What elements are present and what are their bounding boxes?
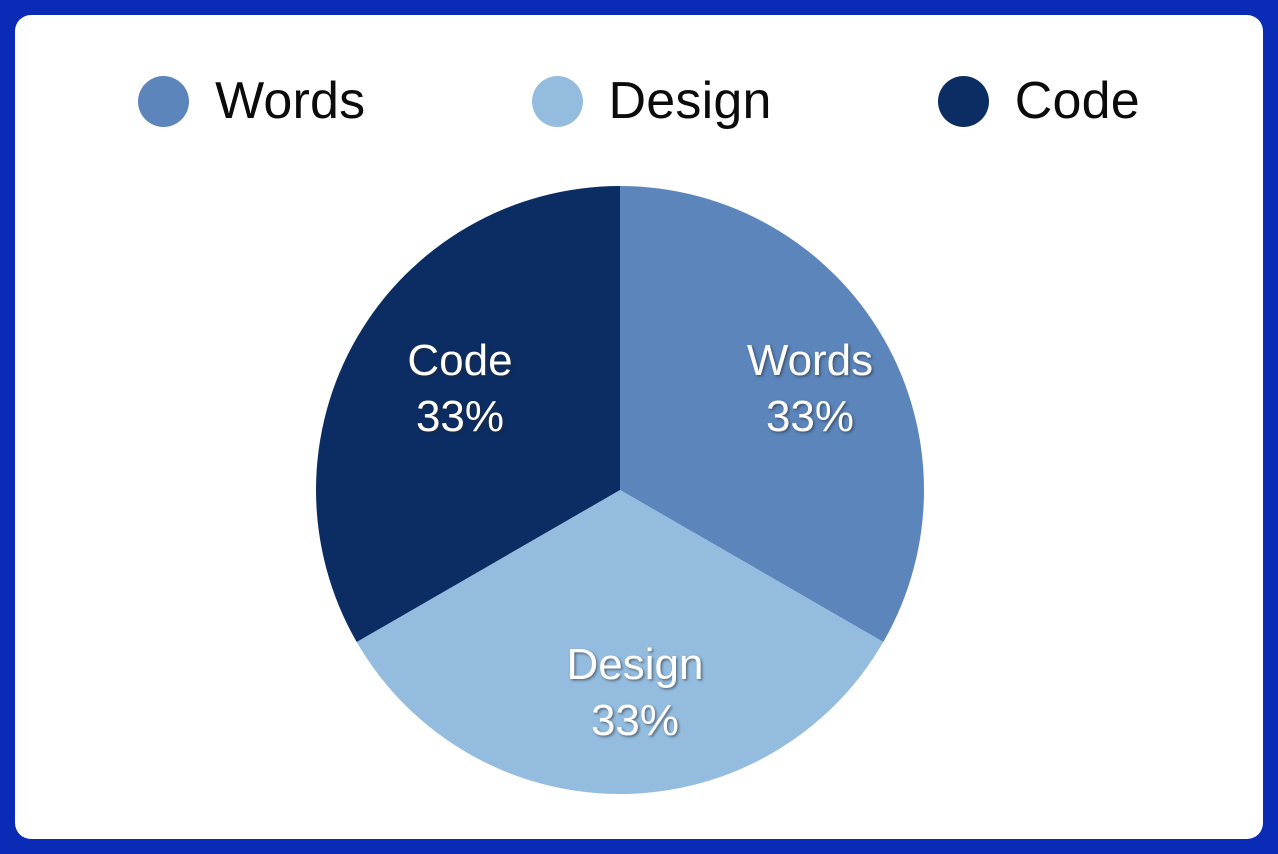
chart-card: Words Design Code Words [15, 15, 1263, 839]
outer-blue-frame: Words Design Code Words [0, 0, 1278, 854]
pie-chart-svg [301, 171, 939, 809]
pie-chart: Words 33% Design 33% Code 33% [15, 15, 1263, 839]
